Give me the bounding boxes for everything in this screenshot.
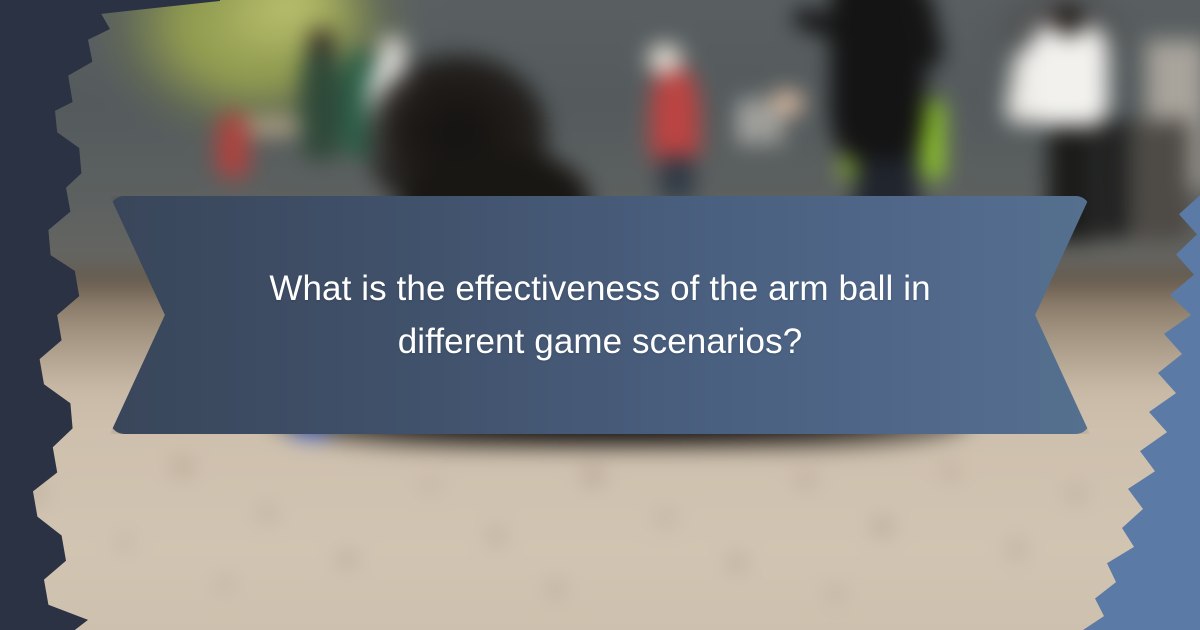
photo-person-red-center (650, 66, 700, 170)
photo-stump-2 (756, 98, 764, 144)
sand-speckle (800, 475, 812, 484)
photo-stump-1 (740, 100, 748, 144)
photo-person-red-left (216, 112, 250, 178)
photo-person-far-right-legs (1134, 120, 1190, 240)
sand-speckle (175, 462, 190, 472)
sand-speckle (340, 555, 354, 564)
photo-runner-torso (1030, 26, 1108, 126)
sand-speckle (550, 585, 562, 593)
sand-speckle (585, 470, 601, 481)
sand-speckle (262, 510, 273, 518)
sand-speckle (1010, 545, 1023, 554)
sand-speckle (1070, 490, 1082, 498)
sand-speckle (830, 590, 841, 597)
photo-person-green (300, 40, 342, 160)
sand-speckle (730, 558, 744, 567)
photo-person-red-center-head (648, 44, 682, 74)
sand-speckle (660, 515, 671, 523)
page-title: What is the effectiveness of the arm bal… (180, 262, 1020, 368)
social-card: What is the effectiveness of the arm bal… (0, 0, 1200, 630)
sand-speckle (875, 522, 890, 532)
headline-ribbon-banner: What is the effectiveness of the arm bal… (110, 196, 1090, 434)
sand-speckle (425, 482, 435, 489)
photo-runner-head (1054, 6, 1084, 36)
photo-bowler-hand (770, 90, 804, 116)
sand-speckle (220, 580, 230, 587)
photo-person-red-center-legs (660, 156, 694, 200)
sand-speckle (490, 532, 503, 541)
photo-person-green-head (308, 28, 334, 56)
sand-speckle (945, 468, 956, 476)
photo-runner-leg-right (1096, 120, 1130, 238)
sand-speckle (120, 540, 130, 547)
photo-person-white-far-head (380, 36, 406, 62)
